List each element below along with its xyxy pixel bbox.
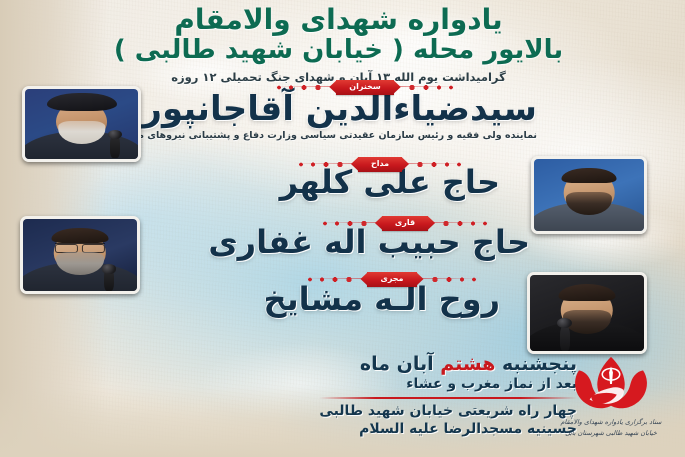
- header-subtitle: گرامیداشت یوم الله ۱۳ آبان و شهدای جنگ ت…: [0, 70, 677, 84]
- microphone-head-icon: [102, 264, 117, 273]
- poster-header: یادواره شهدای والامقام بالایور محله ( خی…: [0, 4, 677, 84]
- portrait-hair: [52, 228, 109, 244]
- portrait-speaker: [22, 86, 141, 162]
- portrait-eulogist-image: [534, 159, 644, 231]
- portrait-host: [527, 272, 647, 354]
- footer-divider-rule: [319, 397, 577, 399]
- entry-host-name: روح الـه مشایخ: [264, 283, 500, 317]
- footer-address-line-2: حسینیه مسجدالرضا علیه السلام: [319, 421, 577, 439]
- logo-caption-line-1: ستاد برگزاری یادواره شهدای والامقام: [551, 418, 671, 428]
- portrait-hair: [559, 284, 616, 301]
- eyeglasses-icon: [55, 243, 105, 250]
- portrait-reciter: [20, 216, 140, 294]
- organizer-logo: ستاد برگزاری یادواره شهدای والامقام خیاب…: [551, 351, 671, 445]
- tulip-emblem-icon: [552, 351, 670, 417]
- footer-address-line-1: چهار راه شریعتی خیابان شهید طالبی: [319, 403, 577, 421]
- entry-reciter-name: حاج حبیب اله غفاری: [208, 226, 530, 260]
- entry-speaker-name: سیدضیاءالدین آقاجانپور: [118, 92, 537, 128]
- poster-footer: پنجشنبه هشتم آبان ماه بعد از نماز مغرب و…: [319, 352, 577, 439]
- footer-date-highlight: هشتم: [440, 353, 495, 375]
- entry-speaker: سیدضیاءالدین آقاجانپور نماینده ولی فقیه …: [118, 92, 537, 141]
- logo-caption-line-2: خیابان شهید طالبی شهرستان بابل: [551, 429, 671, 439]
- entry-reciter: حاج حبیب اله غفاری: [208, 226, 530, 260]
- portrait-hair: [562, 168, 617, 184]
- footer-time: بعد از نماز مغرب و عشاء: [319, 376, 577, 394]
- entry-eulogist-name: حاج علی کلهر: [280, 166, 500, 200]
- microphone-icon: [560, 325, 570, 351]
- header-title-line-1: یادواره شهدای والامقام: [0, 4, 677, 35]
- portrait-reciter-image: [23, 219, 137, 291]
- header-title-line-2: بالایور محله ( خیابان شهید طالبی ): [0, 36, 677, 65]
- portrait-eulogist: [531, 156, 647, 234]
- entry-eulogist: حاج علی کلهر: [280, 166, 500, 200]
- entry-speaker-subtitle: نماینده ولی فقیه و رئیس سازمان عقیدتی سی…: [118, 130, 537, 141]
- poster-canvas: یادواره شهدای والامقام بالایور محله ( خی…: [0, 0, 685, 457]
- portrait-speaker-image: [25, 89, 138, 159]
- portrait-turban: [46, 93, 116, 111]
- portrait-host-image: [530, 275, 644, 351]
- footer-date-line: پنجشنبه هشتم آبان ماه: [319, 352, 577, 376]
- footer-date-suffix: آبان ماه: [360, 353, 440, 375]
- entry-host: روح الـه مشایخ: [264, 283, 500, 317]
